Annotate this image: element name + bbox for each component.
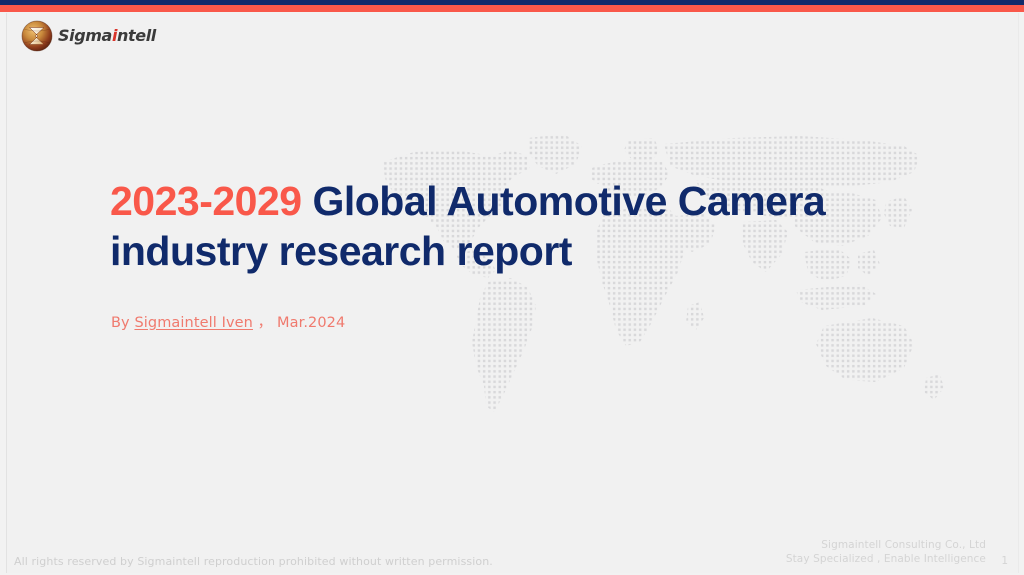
brand-logo: Sigmaintell <box>20 19 156 53</box>
byline: By Sigmaintell Iven ， Mar.2024 <box>111 311 345 332</box>
top-coral-accent-bar <box>0 5 1024 12</box>
byline-prefix: By <box>111 315 134 331</box>
brand-name-part2: ntell <box>117 26 156 45</box>
footer-company-block: Sigmaintell Consulting Co., Ltd Stay Spe… <box>786 538 986 566</box>
footer-company-name: Sigmaintell Consulting Co., Ltd <box>786 538 986 552</box>
page-title: 2023-2029 Global Automotive Camera indus… <box>110 176 900 276</box>
footer-tagline: Stay Specialized , Enable Intelligence <box>786 552 986 566</box>
slide-canvas <box>6 13 1019 573</box>
brand-name-part1: Sigma <box>58 26 112 45</box>
sigmaintell-sphere-logo-icon <box>20 19 54 53</box>
title-years: 2023-2029 <box>110 178 302 224</box>
byline-suffix: ， Mar.2024 <box>253 315 345 331</box>
title-block: 2023-2029 Global Automotive Camera indus… <box>110 176 900 276</box>
footer-copyright: All rights reserved by Sigmaintell repro… <box>14 555 493 568</box>
brand-wordmark: Sigmaintell <box>58 28 156 44</box>
byline-author-link[interactable]: Sigmaintell Iven <box>134 315 253 331</box>
page-number: 1 <box>1001 555 1008 567</box>
title-slide: Sigmaintell 2023-2029 Global Automotive … <box>0 0 1024 575</box>
